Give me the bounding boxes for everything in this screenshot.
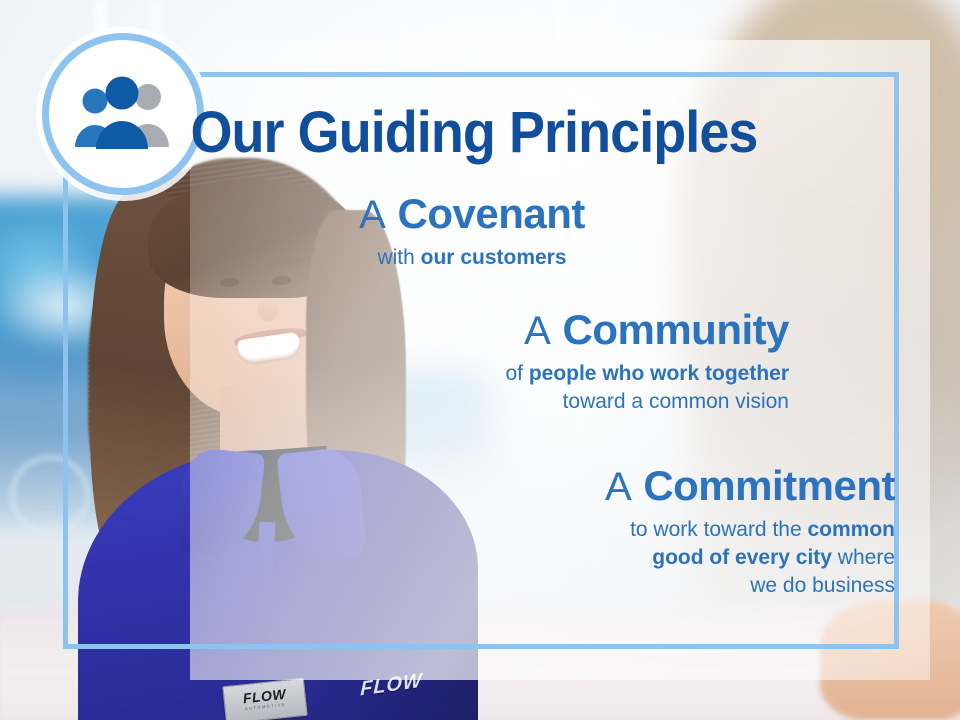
subtext-line: good of every city where: [605, 544, 895, 572]
principle-subtext: to work toward the common good of every …: [605, 516, 895, 599]
subtext-line: we do business: [605, 572, 895, 600]
subtext-line: to work toward the common: [605, 516, 895, 544]
subtext-part-bold: our customers: [421, 246, 567, 269]
subtext-part: of: [505, 362, 528, 385]
subtext-part: to work toward the: [630, 518, 807, 541]
principle-word: Commitment: [643, 462, 895, 509]
page-title: Our Guiding Principles: [92, 104, 856, 162]
principle-subtext: with our customers: [63, 244, 881, 272]
principle-word: Covenant: [398, 190, 585, 237]
subtext-part-bold: common: [807, 518, 895, 541]
principle-subtext: of people who work together toward a com…: [505, 360, 789, 415]
principle-commitment: A Commitment to work toward the common g…: [605, 464, 895, 599]
guiding-principles-poster: FLOW AUTOMOTIVE FLOW Our Guiding Prin: [0, 0, 960, 720]
principle-heading: A Covenant: [63, 192, 881, 236]
name-badge: FLOW AUTOMOTIVE: [222, 678, 308, 720]
subtext-line: with our customers: [63, 244, 881, 272]
principle-heading: A Commitment: [605, 464, 895, 508]
principle-word: Community: [563, 306, 790, 353]
subtext-part: with: [377, 246, 420, 269]
subtext-line: toward a common vision: [505, 388, 789, 416]
principle-heading: A Community: [505, 308, 789, 352]
principle-article: A: [605, 465, 632, 509]
principle-covenant: A Covenant with our customers: [63, 192, 881, 272]
subtext-part-bold: good of every city: [652, 546, 832, 569]
subtext-line: of people who work together: [505, 360, 789, 388]
principle-article: A: [524, 309, 551, 353]
subtext-part-bold: people who work together: [529, 362, 789, 385]
subtext-part: where: [832, 546, 895, 569]
principle-community: A Community of people who work together …: [505, 308, 789, 416]
principle-article: A: [359, 193, 386, 237]
poster-content: Our Guiding Principles A Covenant with o…: [63, 72, 899, 649]
